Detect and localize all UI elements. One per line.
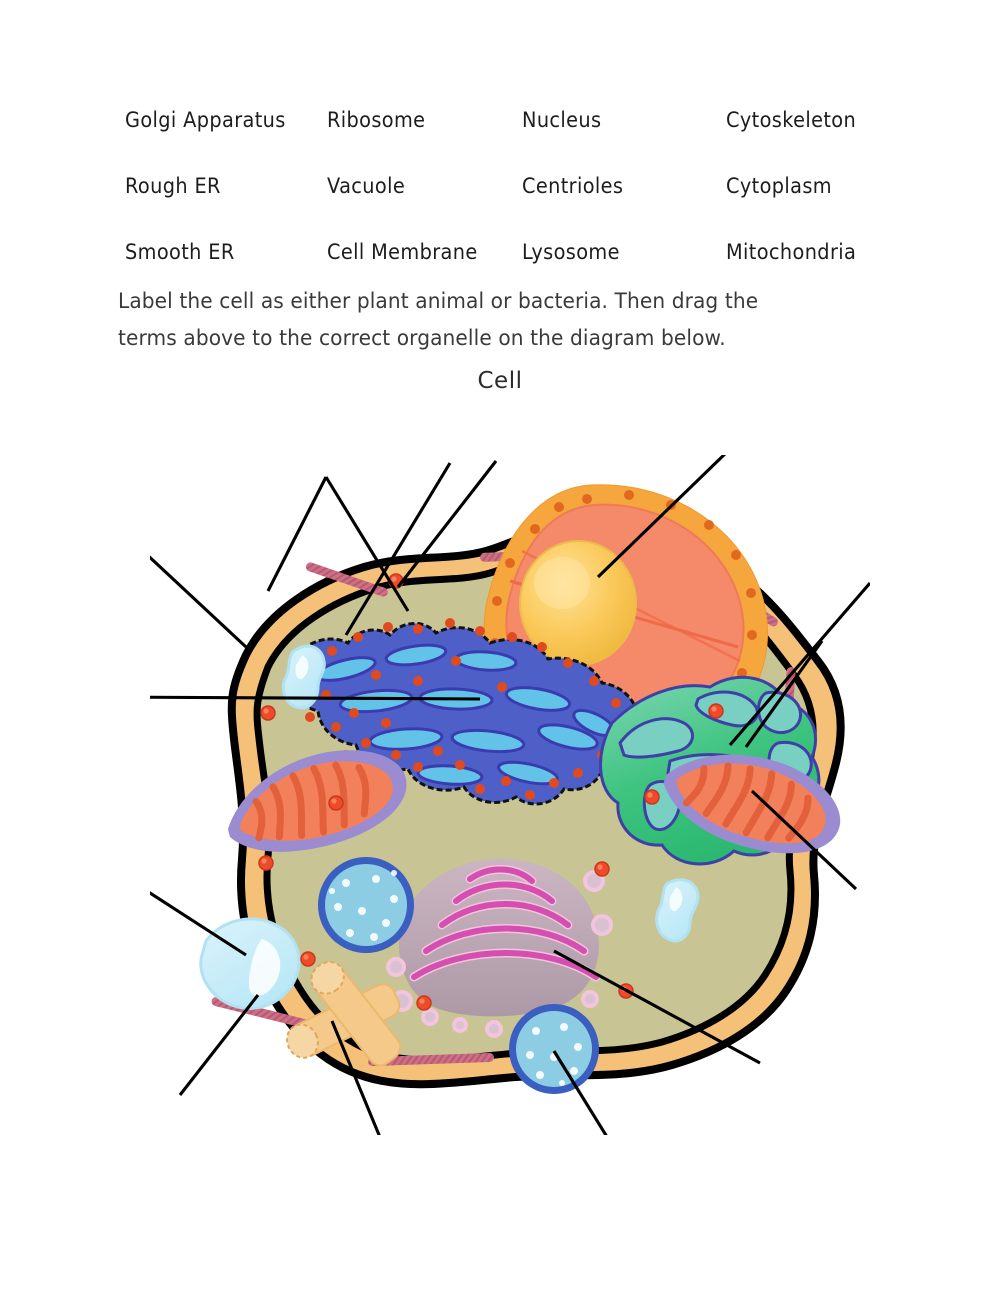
lysosome-upper <box>318 857 414 953</box>
word-bank-term-centrioles[interactable]: Centrioles <box>522 174 623 198</box>
word-bank-term-rough-er[interactable]: Rough ER <box>125 174 221 198</box>
word-bank-term-cell-membrane[interactable]: Cell Membrane <box>327 240 478 264</box>
word-bank-term-vacuole[interactable]: Vacuole <box>327 174 405 198</box>
word-bank-term-nucleus[interactable]: Nucleus <box>522 108 601 132</box>
page-title: Cell <box>0 368 1000 394</box>
word-bank-row: Rough ER Vacuole Centrioles Cytoplasm <box>118 174 878 240</box>
word-bank-term-ribosome[interactable]: Ribosome <box>327 108 425 132</box>
word-bank-term-cytoskeleton[interactable]: Cytoskeleton <box>726 108 856 132</box>
vacuole-large <box>201 919 299 1008</box>
pointer-line-membrane-lower-left[interactable] <box>180 995 258 1095</box>
pointer-line-rough-er[interactable] <box>150 697 480 699</box>
cell-diagram <box>150 455 870 1135</box>
cell-diagram-svg <box>150 455 870 1135</box>
word-bank-term-smooth-er[interactable]: Smooth ER <box>125 240 235 264</box>
instructions-text: Label the cell as either plant animal or… <box>118 283 828 357</box>
instructions-line-1: Label the cell as either plant animal or… <box>118 283 828 320</box>
lysosome-lower <box>509 1004 599 1094</box>
pointer-line-membrane-upper-left[interactable] <box>150 537 246 647</box>
word-bank-row: Golgi Apparatus Ribosome Nucleus Cytoske… <box>118 108 878 174</box>
word-bank-term-cytoplasm[interactable]: Cytoplasm <box>726 174 832 198</box>
word-bank-term-lysosome[interactable]: Lysosome <box>522 240 620 264</box>
instructions-line-2: terms above to the correct organelle on … <box>118 320 828 357</box>
word-bank: Golgi Apparatus Ribosome Nucleus Cytoske… <box>118 108 878 306</box>
word-bank-term-golgi-apparatus[interactable]: Golgi Apparatus <box>125 108 286 132</box>
word-bank-term-mitochondria[interactable]: Mitochondria <box>726 240 856 264</box>
